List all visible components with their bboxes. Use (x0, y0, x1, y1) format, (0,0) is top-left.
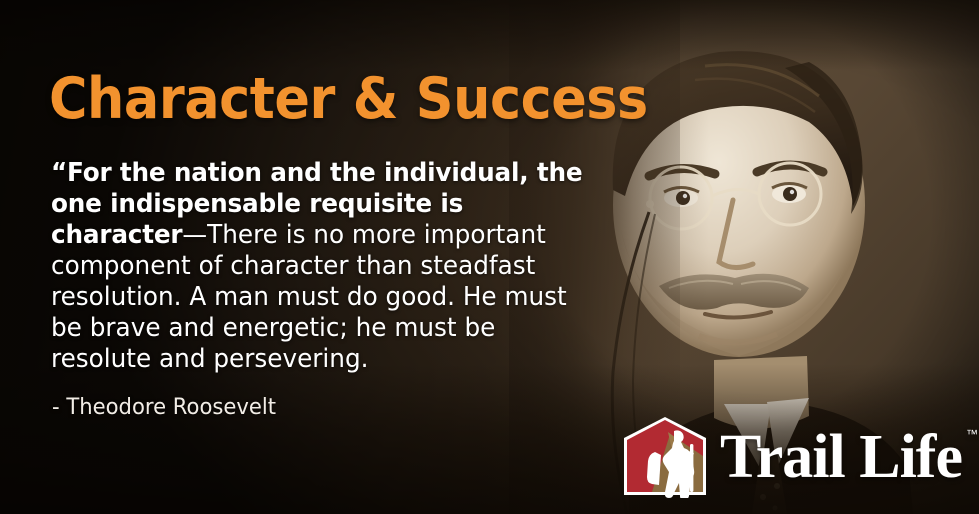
wordmark-text: Trail Life (720, 423, 962, 491)
quote-poster: Character & Success “For the nation and … (0, 0, 979, 514)
quote-text: “For the nation and the individual, the … (51, 158, 602, 375)
trail-life-mark-icon (622, 416, 708, 498)
trail-life-wordmark: Trail Life™ (720, 426, 962, 488)
trail-life-logo[interactable]: Trail Life™ (622, 414, 967, 500)
trademark-symbol: ™ (966, 428, 978, 440)
page-title: Character & Success (49, 71, 648, 128)
quote-attribution: - Theodore Roosevelt (52, 395, 276, 420)
